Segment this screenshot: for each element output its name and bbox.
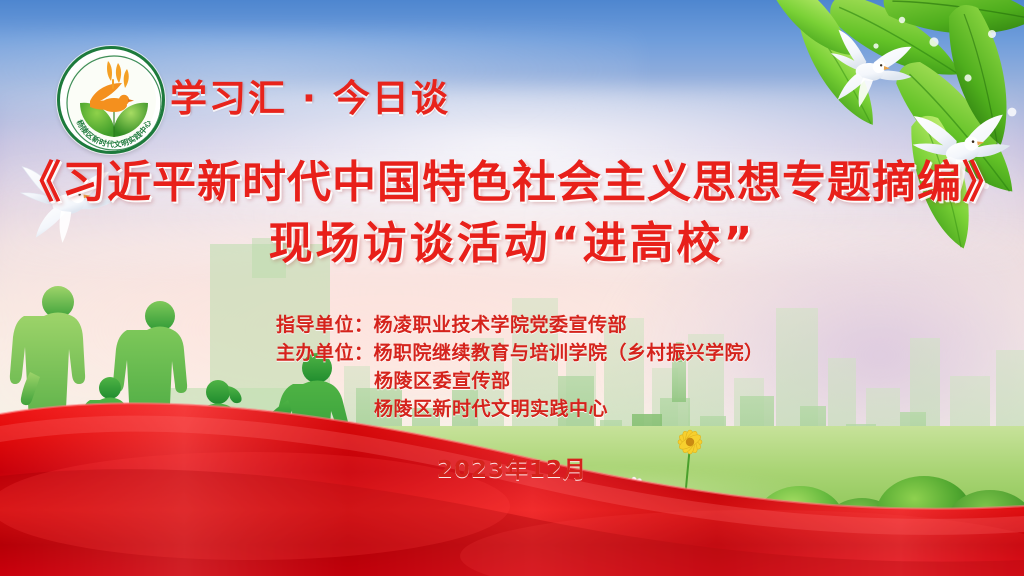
organizer-line-3: 杨陵区委宣传部: [276, 367, 896, 395]
page-title-line1: 《习近平新时代中国特色社会主义思想专题摘编》: [0, 158, 1024, 208]
page-title-line2: 现场访谈活动“进高校”: [0, 219, 1024, 269]
event-date: 2023年12月: [0, 450, 1024, 484]
organizer-line-4: 杨陵区新时代文明实践中心: [276, 395, 896, 423]
program-brand-title: 学习汇 · 今日谈: [170, 68, 450, 122]
dove-top-right-icon: [822, 24, 918, 115]
logo-emblem-artwork: 杨陵区新时代文明实践中心: [60, 49, 165, 154]
organization-logo: 杨陵区新时代文明实践中心: [57, 46, 165, 154]
organizer-line-1: 指导单位：杨凌职业技术学院党委宣传部: [276, 311, 896, 339]
organizer-list: 指导单位：杨凌职业技术学院党委宣传部 主办单位：杨职院继续教育与培训学院（乡村振…: [276, 311, 896, 423]
poster-canvas: 杨陵区新时代文明实践中心 学习汇 · 今日谈 《习近平新时代中国特色社会主义思想…: [0, 0, 1024, 576]
poster-main-title: 《习近平新时代中国特色社会主义思想专题摘编》 现场访谈活动“进高校”: [0, 158, 1024, 269]
logo-outer-ring: 杨陵区新时代文明实践中心: [57, 46, 165, 154]
organizer-line-2: 主办单位：杨职院继续教育与培训学院（乡村振兴学院）: [276, 339, 896, 367]
